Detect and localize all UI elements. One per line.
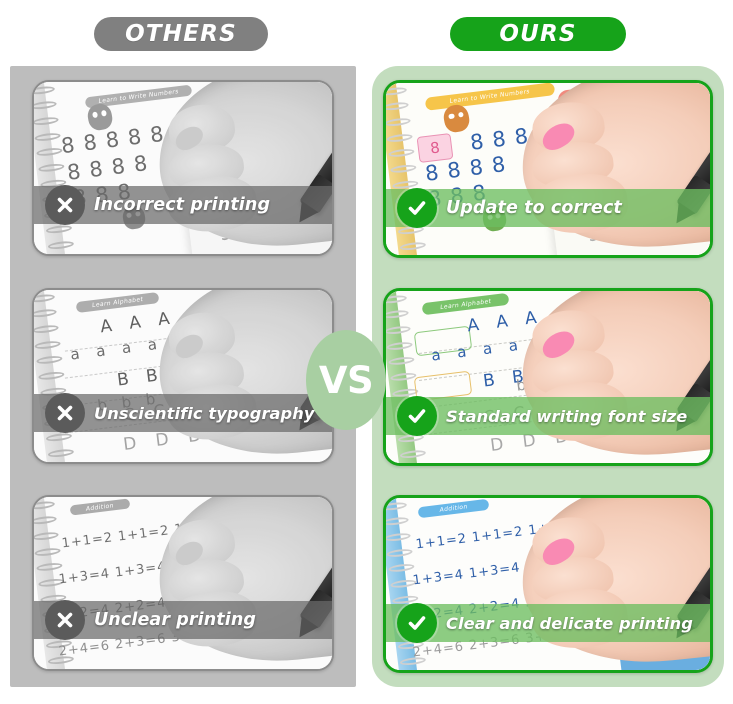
others-badge: OTHERS (94, 17, 268, 51)
caption-label: Unclear printing (94, 610, 256, 630)
check-mark-icon (397, 603, 437, 643)
check-mark-icon (397, 396, 437, 436)
vs-label: VS (319, 359, 373, 402)
photo-scene: Learn Alphabet A A A A a a a a B B B b b… (386, 291, 710, 463)
caption-bar: Clear and delicate printing (386, 604, 710, 642)
vs-badge: VS (306, 330, 386, 430)
caption-bar: Incorrect printing (34, 186, 332, 224)
x-mark-icon (45, 600, 85, 640)
caption-bar: Unscientific typography (34, 394, 332, 432)
photo-scene: Addition 1+1=2 1+1=2 1+2=3 1+2=3 1+3=4 1… (386, 498, 710, 670)
others-panel: Learn to Write Numbers Make an '8' but d… (10, 66, 356, 687)
comparison-infographic: OTHERS OURS Learn to Write Numbers Make … (0, 0, 733, 704)
caption-bar: Unclear printing (34, 601, 332, 639)
others-card-alphabet: Learn Alphabet A A A A a a a a B B B b b… (32, 288, 334, 464)
photo-scene: Learn to Write Numbers Make an '8' but d… (34, 82, 332, 254)
others-badge-label: OTHERS (125, 21, 237, 47)
caption-label: Unscientific typography (94, 404, 315, 423)
caption-label: Standard writing font size (446, 407, 687, 426)
caption-label: Update to correct (446, 198, 622, 218)
caption-bar: Standard writing font size (386, 397, 710, 435)
caption-label: Incorrect printing (94, 195, 270, 215)
ours-card-addition: Addition 1+1=2 1+1=2 1+2=3 1+2=3 1+3=4 1… (383, 495, 713, 673)
caption-bar: Update to correct (386, 189, 710, 227)
caption-label: Clear and delicate printing (446, 614, 693, 633)
ours-panel: Learn to Write Numbers Make an '8' but d… (372, 66, 724, 687)
others-card-addition: Addition 1+1=2 1+1=2 1+2=3 1+2=3 1+3=4 1… (32, 495, 334, 671)
x-mark-icon (45, 185, 85, 225)
ours-badge-label: OURS (499, 21, 576, 47)
ours-card-alphabet: Learn Alphabet A A A A a a a a B B B b b… (383, 288, 713, 466)
check-mark-icon (397, 188, 437, 228)
photo-scene: Learn to Write Numbers Make an '8' but d… (386, 83, 710, 255)
photo-scene: Learn Alphabet A A A A a a a a B B B b b… (34, 290, 332, 462)
others-card-numbers: Learn to Write Numbers Make an '8' but d… (32, 80, 334, 256)
photo-scene: Addition 1+1=2 1+1=2 1+2=3 1+2=3 1+3=4 1… (34, 497, 332, 669)
ours-card-numbers: Learn to Write Numbers Make an '8' but d… (383, 80, 713, 258)
ours-badge: OURS (450, 17, 626, 51)
x-mark-icon (45, 393, 85, 433)
